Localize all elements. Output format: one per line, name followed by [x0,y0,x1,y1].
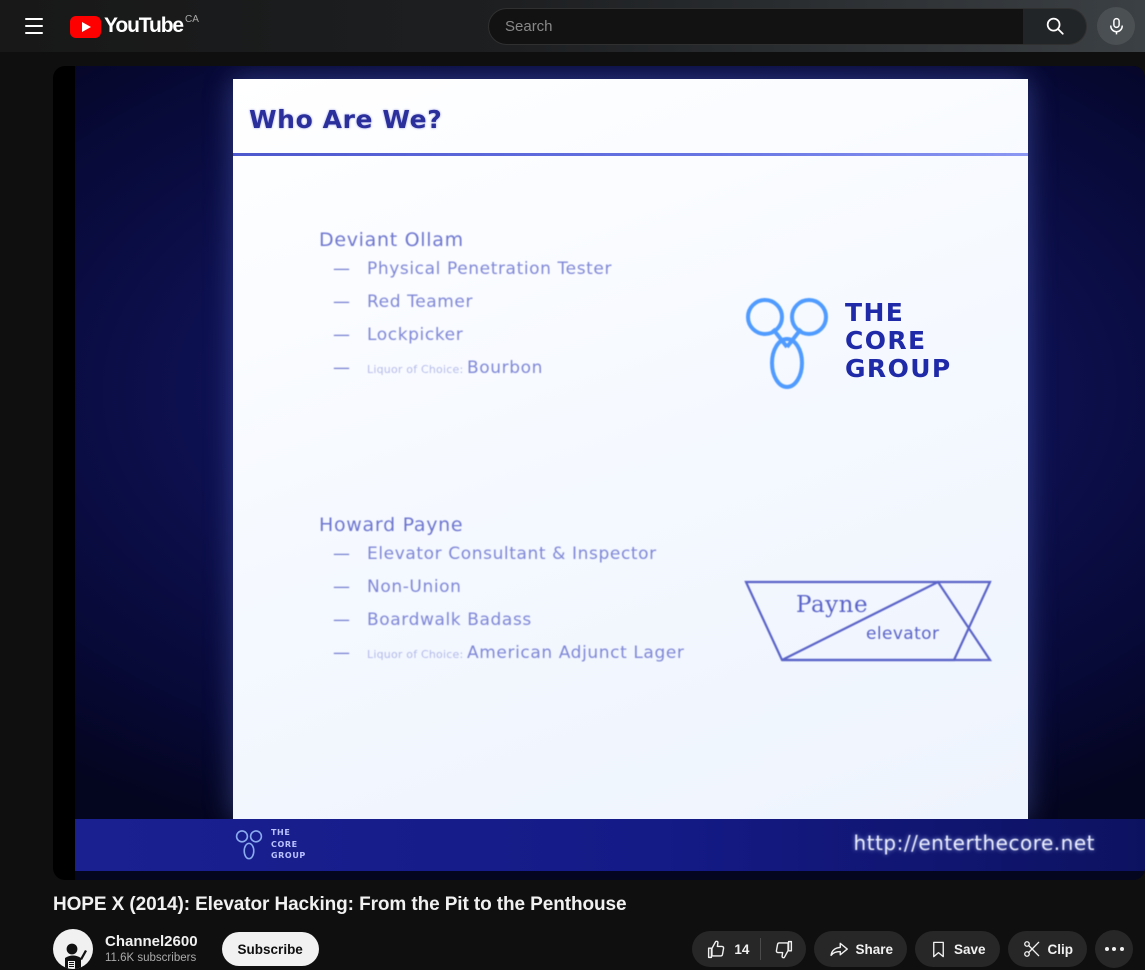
bullet-item: Physical Penetration Tester [367,259,612,279]
save-button[interactable]: Save [915,931,1000,967]
share-button[interactable]: Share [814,931,907,967]
share-icon [828,939,849,960]
bullet-text: Lockpicker [367,325,463,345]
bullet-text: Bourbon [467,358,543,378]
slide-url-text: http://enterthecore.net [854,831,1095,855]
bullet-text: Red Teamer [367,292,473,312]
bullet-prefix: Liquor of Choice: [367,363,467,376]
channel-avatar[interactable] [53,929,93,969]
youtube-wordmark: YouTube [104,15,183,37]
person-bullets: Elevator Consultant & Inspector Non-Unio… [319,544,685,663]
bullet-text: Elevator Consultant & Inspector [367,544,657,564]
video-actions: 14 Share Save [692,930,1133,968]
channel-text: Channel2600 11.6K subscribers [105,933,198,966]
bullet-text: American Adjunct Lager [467,643,684,663]
bullet-prefix: Liquor of Choice: [367,648,467,661]
masthead: YouTube CA [0,0,1145,52]
dislike-button[interactable] [761,939,794,960]
payne-elevator-logo: Payne elevator [738,574,998,669]
subscribe-button[interactable]: Subscribe [222,932,319,966]
bullet-item: Non-Union [367,577,685,597]
voice-search-button[interactable] [1097,7,1135,45]
thumbs-down-icon [773,939,794,960]
ellipsis-icon [1105,947,1124,951]
video-meta-row: Channel2600 11.6K subscribers Subscribe … [53,928,1133,970]
footer-core-logo: THE CORE GROUP [235,827,306,862]
person-name: Deviant Ollam [319,229,612,251]
slide-person-block: Deviant Ollam Physical Penetration Teste… [319,229,612,391]
guide-bar [25,18,43,20]
search-input-box[interactable] [488,8,1023,45]
payne-wordmark: Payne [796,592,868,618]
youtube-play-icon [70,16,101,38]
video-frame: Who Are We? Deviant Ollam Physical Penet… [75,66,1145,880]
like-count: 14 [734,942,749,957]
trefoil-icon [235,827,263,861]
core-line-1: THE [845,299,952,327]
guide-menu-icon[interactable] [14,6,54,46]
footer-core-wordmark: THE CORE GROUP [271,827,306,862]
bullet-text: Boardwalk Badass [367,610,532,630]
slide-person-block: Howard Payne Elevator Consultant & Inspe… [319,514,685,676]
share-label: Share [855,942,893,957]
bullet-item: Liquor of Choice: American Adjunct Lager [367,643,685,663]
bookmark-icon [929,940,948,959]
search-button[interactable] [1023,8,1087,45]
footer-line-1: THE [271,827,306,839]
core-line-3: GROUP [845,355,952,383]
bullet-item: Lockpicker [367,325,612,345]
masthead-search-area [488,7,1135,45]
bullet-item: Boardwalk Badass [367,610,685,630]
guide-bar [25,25,43,27]
dot [1105,947,1109,951]
like-button[interactable]: 14 [706,939,760,960]
guide-bar [25,32,43,34]
footer-line-2: CORE [271,839,306,851]
save-label: Save [954,942,986,957]
dot [1112,947,1116,951]
channel-owner: Channel2600 11.6K subscribers Subscribe [53,929,319,969]
more-actions-button[interactable] [1095,930,1133,968]
channel-name[interactable]: Channel2600 [105,933,198,951]
microphone-icon [1106,16,1127,37]
bullet-item: Liquor of Choice: Bourbon [367,358,612,378]
parallelogram-icon [738,574,998,669]
clip-button[interactable]: Clip [1008,931,1088,967]
presentation-slide: Who Are We? Deviant Ollam Physical Penet… [233,79,1028,819]
bullet-item: Red Teamer [367,292,612,312]
dot [1120,947,1124,951]
slide-title: Who Are We? [249,105,442,134]
person-name: Howard Payne [319,514,685,536]
country-code-label: CA [185,14,199,25]
core-group-wordmark: THE CORE GROUP [845,299,952,384]
bullet-text: Non-Union [367,577,462,597]
search-icon [1044,15,1066,37]
slide-footer-bar: THE CORE GROUP http://enterthecore.net [75,819,1145,871]
payne-subtext: elevator [866,624,939,644]
core-group-logo: THE CORE GROUP [743,291,952,391]
search-input[interactable] [505,18,1007,35]
clip-label: Clip [1048,942,1074,957]
like-dislike-group: 14 [692,931,806,967]
person-bullets: Physical Penetration Tester Red Teamer L… [319,259,612,378]
scissors-icon [1022,939,1042,959]
bullet-item: Elevator Consultant & Inspector [367,544,685,564]
core-line-2: CORE [845,327,952,355]
search-form [488,8,1087,45]
bullet-text: Physical Penetration Tester [367,259,612,279]
video-player[interactable]: Who Are We? Deviant Ollam Physical Penet… [53,66,1145,880]
thumbs-up-icon [706,939,727,960]
video-title: HOPE X (2014): Elevator Hacking: From th… [53,894,953,916]
masthead-start: YouTube CA [0,6,199,46]
slide-divider [233,153,1028,156]
avatar-illustration-icon [58,941,88,969]
trefoil-icon [743,291,831,391]
youtube-logo[interactable]: YouTube CA [70,15,199,38]
footer-line-3: GROUP [271,850,306,862]
channel-subscriber-count: 11.6K subscribers [105,951,198,966]
